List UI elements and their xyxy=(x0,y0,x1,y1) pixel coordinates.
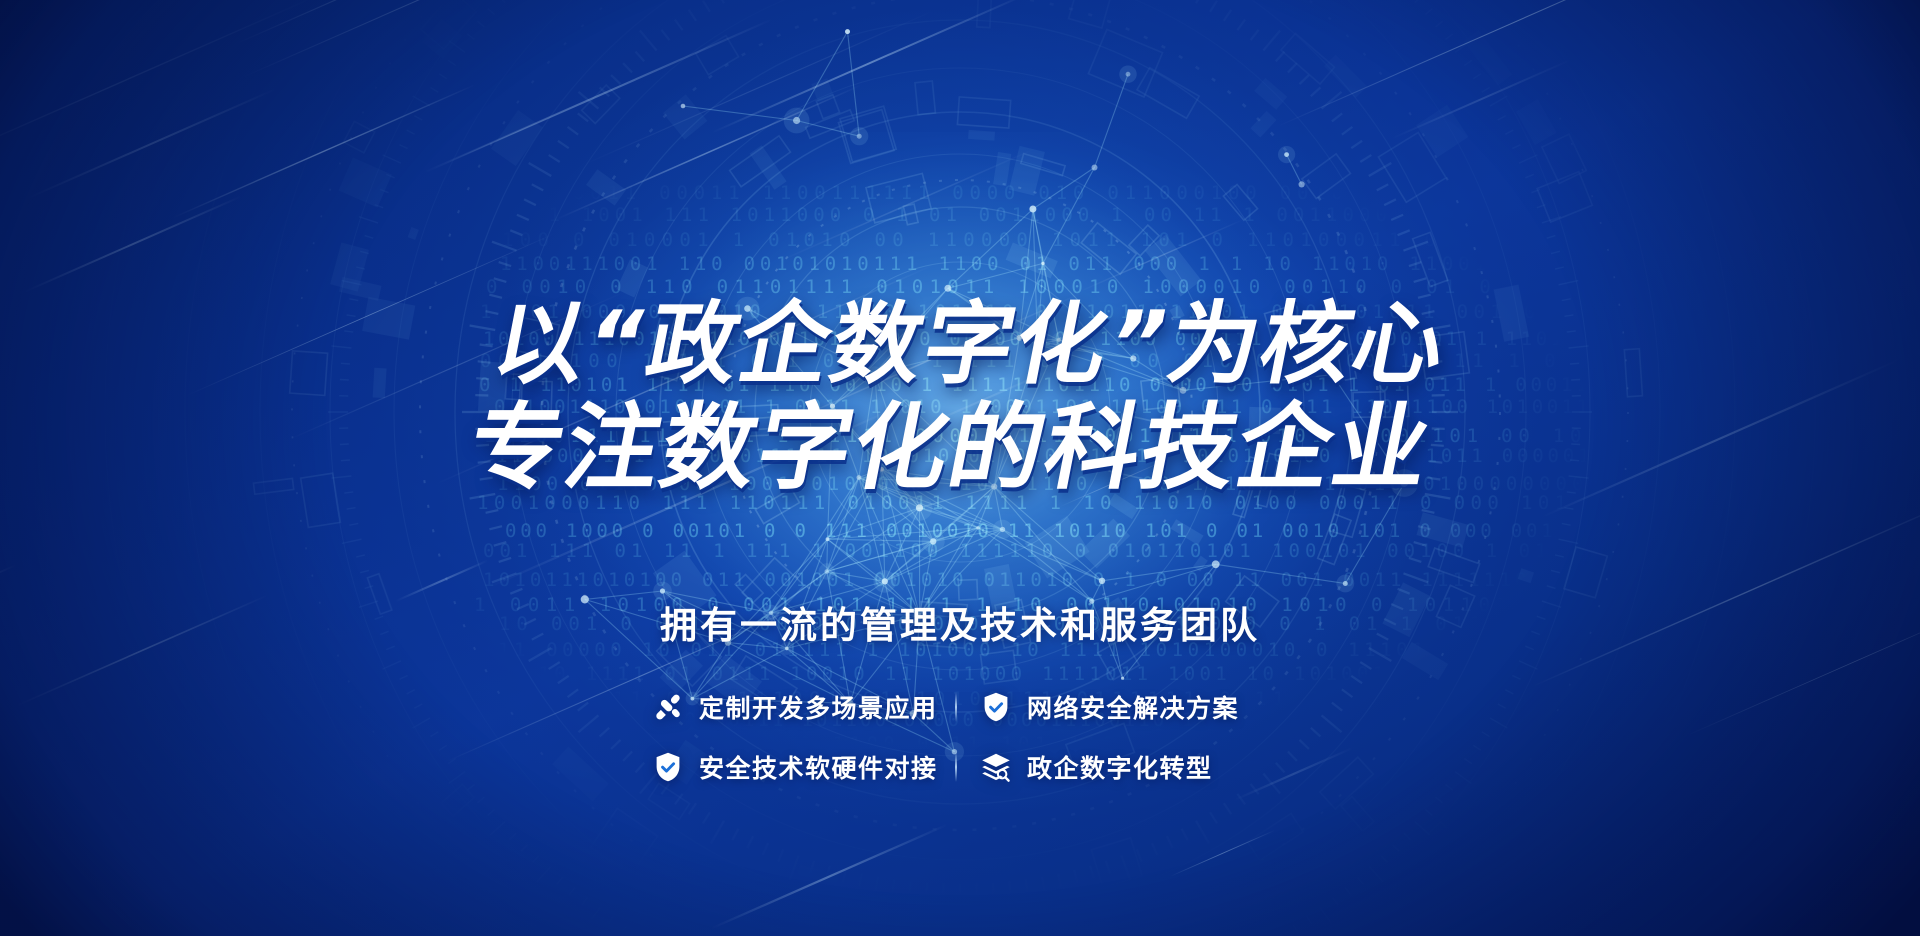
feature-divider xyxy=(955,752,957,782)
shield-check-icon xyxy=(979,690,1013,724)
banner-content: 以“政企数字化”为核心 专注数字化的科技企业 拥有一流的管理及技术和服务团队 定… xyxy=(0,0,1920,936)
feature-label: 网络安全解决方案 xyxy=(1027,689,1239,725)
feature-item-security-integration[interactable]: 安全技术软硬件对接 xyxy=(651,749,951,785)
custom-development-icon xyxy=(651,690,685,724)
headline-line-1: 以“政企数字化”为核心 xyxy=(481,296,1460,394)
feature-item-network-security[interactable]: 网络安全解决方案 xyxy=(979,689,1269,725)
feature-row: 安全技术软硬件对接 政企数字化转型 xyxy=(651,749,1269,785)
feature-list: 定制开发多场景应用 网络安全解决方案 xyxy=(651,689,1269,785)
layers-search-icon xyxy=(979,750,1013,784)
feature-label: 安全技术软硬件对接 xyxy=(699,749,938,785)
headline-line-2: 专注数字化的科技企业 xyxy=(460,398,1440,500)
tagline: 拥有一流的管理及技术和服务团队 xyxy=(660,595,1260,649)
hero-banner: 01110011 00011 1100111111 0000 010 01100… xyxy=(0,0,1920,936)
feature-item-digital-transformation[interactable]: 政企数字化转型 xyxy=(979,749,1269,785)
feature-label: 定制开发多场景应用 xyxy=(699,689,938,725)
page-title: 以“政企数字化”为核心 专注数字化的科技企业 xyxy=(460,296,1460,501)
feature-divider xyxy=(955,692,957,722)
feature-label: 政企数字化转型 xyxy=(1027,749,1213,785)
shield-check-icon xyxy=(651,750,685,784)
feature-row: 定制开发多场景应用 网络安全解决方案 xyxy=(651,689,1269,725)
feature-item-custom-development[interactable]: 定制开发多场景应用 xyxy=(651,689,951,725)
